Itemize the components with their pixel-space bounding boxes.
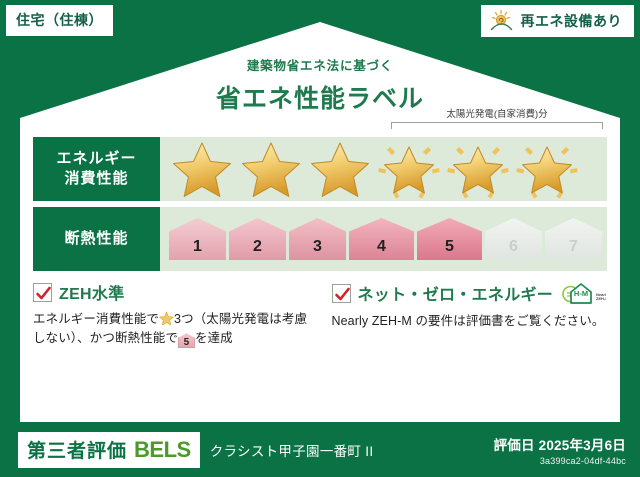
evaluation-id: 3a399ca2-04df-44bc (494, 456, 626, 466)
insulation-performance-row-label: 断熱性能 (33, 207, 160, 271)
energy-star-2 (238, 139, 304, 199)
zeh-desc-part-3: を達成 (195, 331, 233, 345)
property-name: クラシスト甲子園一番町 II (210, 440, 374, 460)
bels-logo-text: BELS (134, 437, 191, 463)
net-zero-energy-checkbox[interactable] (332, 284, 351, 303)
net-zero-energy-title: ネット・ゼロ・エネルギー (358, 281, 554, 305)
criteria-blocks: ZEH水準 エネルギー消費性能で 3つ（太陽光発電は考慮しない）、かつ断熱性能で… (33, 280, 612, 349)
insulation-badge-4: 4 (349, 218, 414, 260)
zeh-desc-part-1: エネルギー消費性能で (33, 312, 159, 326)
energy-performance-row: エネルギー 消費性能 太陽光発電(自家消費)分 (33, 137, 607, 201)
zeh-level-description: エネルギー消費性能で 3つ（太陽光発電は考慮しない）、かつ断熱性能で5を達成 (33, 310, 314, 349)
insulation-badge-3: 3 (289, 218, 346, 260)
solar-generation-annotation: 太陽光発電(自家消費)分 (391, 106, 603, 129)
energy-performance-row-body: 太陽光発電(自家消費)分 (160, 137, 607, 201)
insulation-grade-badges: 1 2 3 4 5 6 7 (160, 218, 602, 260)
checkmark-icon (334, 286, 351, 303)
insulation-badge-7: 7 (545, 218, 602, 260)
energy-star-5-solar (445, 139, 511, 199)
bels-japanese-label: 第三者評価 (27, 436, 127, 463)
energy-star-3 (307, 139, 373, 199)
renewable-tag-label: 再エネ設備あり (521, 11, 623, 31)
insulation-badge-5: 5 (417, 218, 482, 260)
zeh-level-title: ZEH水準 (59, 280, 125, 304)
energy-star-6-solar (514, 139, 580, 199)
energy-star-rating (160, 139, 580, 199)
house-type-tag: 住宅（住棟） (6, 5, 113, 36)
energy-label-line-2: 消費性能 (64, 169, 128, 189)
nearly-zeh-m-logo: H-M Nearly ZEH-M (560, 280, 606, 306)
bels-evaluation-badge: 第三者評価 BELS (18, 432, 200, 468)
insulation-badge-2: 2 (229, 218, 286, 260)
criteria-zeh-header: ZEH水準 (33, 280, 314, 304)
insulation-label-line-1: 断熱性能 (64, 229, 128, 249)
performance-rows: エネルギー 消費性能 太陽光発電(自家消費)分 (33, 137, 607, 271)
svg-text:H-M: H-M (574, 289, 588, 298)
evaluation-date-block: 評価日 2025年3月6日 3a399ca2-04df-44bc (494, 434, 626, 466)
criteria-zeh-level: ZEH水準 エネルギー消費性能で 3つ（太陽光発電は考慮しない）、かつ断熱性能で… (33, 280, 314, 349)
zeh-level-checkbox[interactable] (33, 283, 52, 302)
checkmark-icon (35, 285, 52, 302)
solar-annotation-bracket (391, 122, 603, 129)
energy-label-line-1: エネルギー (56, 149, 136, 169)
zeh-desc-grade-badge: 5 (178, 333, 195, 348)
star-icon (159, 311, 174, 325)
energy-star-4-solar (376, 139, 442, 199)
svg-text:ZEH-M: ZEH-M (596, 296, 606, 301)
solar-annotation-label: 太陽光発電(自家消費)分 (391, 106, 603, 120)
renewable-equipment-tag: 再エネ設備あり (481, 5, 635, 37)
energy-star-1 (169, 139, 235, 199)
energy-performance-label: 住宅（住棟） 再エネ設備あり 建築物省エネ法に基づく 省エネ性能ラベル (0, 0, 640, 477)
net-zero-energy-description: Nearly ZEH-M の要件は評価書をご覧ください。 (332, 312, 613, 331)
evaluation-date: 評価日 2025年3月6日 (494, 434, 626, 454)
insulation-performance-row: 断熱性能 1 2 3 4 5 6 7 (33, 207, 607, 271)
energy-performance-row-label: エネルギー 消費性能 (33, 137, 160, 201)
insulation-performance-row-body: 1 2 3 4 5 6 7 (160, 207, 607, 271)
house-type-tag-label: 住宅（住棟） (16, 10, 103, 30)
solar-sun-icon (489, 9, 515, 33)
label-subtitle: 建築物省エネ法に基づく (0, 55, 640, 74)
criteria-nze-header: ネット・ゼロ・エネルギー H-M Nearly ZEH-M (332, 280, 613, 306)
insulation-badge-1: 1 (169, 218, 226, 260)
criteria-net-zero-energy: ネット・ゼロ・エネルギー H-M Nearly ZEH-M Nearly ZEH… (332, 280, 613, 349)
insulation-badge-6: 6 (485, 218, 542, 260)
bottom-bar: 第三者評価 BELS クラシスト甲子園一番町 II 評価日 2025年3月6日 … (0, 422, 640, 477)
